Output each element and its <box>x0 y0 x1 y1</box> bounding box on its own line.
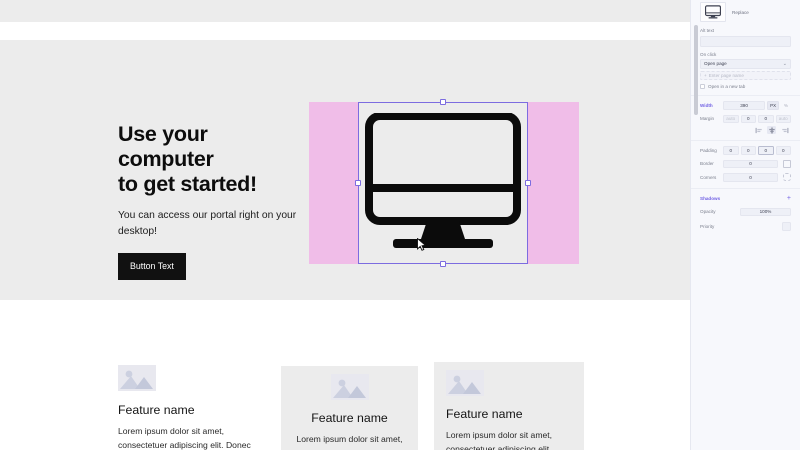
align-right-icon[interactable] <box>780 126 789 134</box>
priority-label: Priority <box>700 224 740 229</box>
opacity-row: Opacity 100% <box>700 208 791 217</box>
add-shadow-button[interactable]: + <box>787 195 791 202</box>
corner-radius-icon[interactable] <box>783 173 791 181</box>
align-left-icon[interactable] <box>754 126 763 134</box>
divider <box>691 140 800 141</box>
hero-cta-button[interactable]: Button Text <box>118 253 186 280</box>
hero-text-block: Use your computer to get started! You ca… <box>118 122 308 280</box>
canvas-white-band <box>0 22 690 40</box>
image-placeholder-icon <box>446 370 484 396</box>
chevron-down-icon: ⌄ <box>783 61 787 67</box>
feature-card[interactable]: Feature name Lorem ipsum dolor sit amet,… <box>281 366 418 450</box>
box-model-section: Padding 0 0 0 0 Border 0 Corners 0 <box>691 146 800 182</box>
on-click-action-value: Open page <box>704 61 727 66</box>
feature-card[interactable]: Feature name Lorem ipsum dolor sit amet,… <box>434 362 584 450</box>
hero-subtitle: You can access our portal right on your … <box>118 208 308 239</box>
resize-handle-left[interactable] <box>355 180 361 186</box>
alt-text-section: Alt text <box>691 28 800 47</box>
margin-left-input[interactable]: auto <box>776 115 792 124</box>
margin-top-input[interactable]: auto <box>723 115 739 124</box>
image-placeholder-icon <box>118 365 156 391</box>
effects-section: Shadows + Opacity 100% Priority <box>691 195 800 231</box>
corners-row: Corners 0 <box>700 173 791 182</box>
margin-bottom-input[interactable]: 0 <box>758 115 774 124</box>
page-name-placeholder: Enter page name <box>709 73 744 78</box>
feature-title: Feature name <box>446 407 574 421</box>
padding-right-input[interactable]: 0 <box>741 146 757 155</box>
feature-title: Feature name <box>118 403 273 417</box>
on-click-action-select[interactable]: Open page ⌄ <box>700 59 791 69</box>
padding-bottom-input[interactable]: 0 <box>758 146 774 155</box>
page-name-input[interactable]: + Enter page name <box>700 71 791 80</box>
divider <box>691 95 800 96</box>
canvas-top-strip <box>0 0 690 22</box>
margin-alignment-group <box>700 126 791 134</box>
website-canvas[interactable]: Use your computer to get started! You ca… <box>0 0 690 450</box>
image-preview-row: Replace <box>691 0 800 28</box>
shadows-label: Shadows <box>700 196 720 201</box>
selection-bounding-box <box>358 102 528 264</box>
image-placeholder-icon <box>331 374 369 400</box>
feature-card[interactable]: Feature name Lorem ipsum dolor sit amet,… <box>118 300 273 450</box>
resize-handle-right[interactable] <box>525 180 531 186</box>
padding-top-input[interactable]: 0 <box>723 146 739 155</box>
margin-right-input[interactable]: 0 <box>741 115 757 124</box>
priority-row: Priority <box>700 222 791 231</box>
border-style-icon[interactable] <box>783 160 791 168</box>
mouse-cursor-icon <box>417 238 426 251</box>
new-tab-checkbox-row[interactable]: Open in a new tab <box>700 84 791 89</box>
padding-row: Padding 0 0 0 0 <box>700 146 791 155</box>
feature-body: Lorem ipsum dolor sit amet, consectetuer… <box>118 424 273 450</box>
width-unit-percent[interactable]: % <box>781 101 791 110</box>
feature-body: Lorem ipsum dolor sit amet, consectetuer… <box>291 432 408 450</box>
properties-panel[interactable]: Replace Alt text On click Open page ⌄ + … <box>690 0 800 450</box>
width-input[interactable]: 390 <box>723 101 765 110</box>
margin-row: Margin auto 0 0 auto <box>700 115 791 124</box>
border-row: Border 0 <box>700 160 791 169</box>
new-tab-label: Open in a new tab <box>708 84 745 89</box>
width-unit-px[interactable]: PX <box>767 101 779 110</box>
image-thumbnail[interactable] <box>700 2 726 22</box>
border-width-input[interactable]: 0 <box>723 160 778 169</box>
replace-image-button[interactable]: Replace <box>732 10 749 15</box>
hero-title-line-1: Use your computer <box>118 122 214 171</box>
alt-text-label: Alt text <box>700 28 791 33</box>
editor-window: Use your computer to get started! You ca… <box>0 0 800 450</box>
feature-title: Feature name <box>291 411 408 425</box>
margin-label: Margin <box>700 116 723 121</box>
corner-radius-input[interactable]: 0 <box>723 173 778 182</box>
plus-icon: + <box>704 73 707 78</box>
width-row: Width 390 PX % <box>700 101 791 110</box>
border-label: Border <box>700 161 723 166</box>
opacity-input[interactable]: 100% <box>740 208 791 217</box>
resize-handle-top[interactable] <box>440 99 446 105</box>
opacity-label: Opacity <box>700 209 740 214</box>
priority-input[interactable] <box>782 222 791 231</box>
resize-handle-bottom[interactable] <box>440 261 446 267</box>
on-click-section: On click Open page ⌄ + Enter page name O… <box>691 52 800 90</box>
align-center-icon[interactable] <box>767 126 776 134</box>
corners-label: Corners <box>700 175 723 180</box>
checkbox-icon[interactable] <box>700 84 705 89</box>
padding-label: Padding <box>700 148 723 153</box>
on-click-label: On click <box>700 52 791 57</box>
panel-scrollbar[interactable] <box>694 25 698 115</box>
padding-left-input[interactable]: 0 <box>776 146 792 155</box>
hero-title-line-2: to get started! <box>118 172 257 196</box>
alt-text-input[interactable] <box>700 36 791 47</box>
hero-title: Use your computer to get started! <box>118 122 308 197</box>
shadows-row: Shadows + <box>700 195 791 202</box>
feature-body: Lorem ipsum dolor sit amet, consectetuer… <box>446 428 574 450</box>
width-section: Width 390 PX % Margin auto 0 0 auto <box>691 101 800 134</box>
divider <box>691 188 800 189</box>
features-section[interactable]: Feature name Lorem ipsum dolor sit amet,… <box>0 300 690 450</box>
width-label: Width <box>700 103 723 108</box>
